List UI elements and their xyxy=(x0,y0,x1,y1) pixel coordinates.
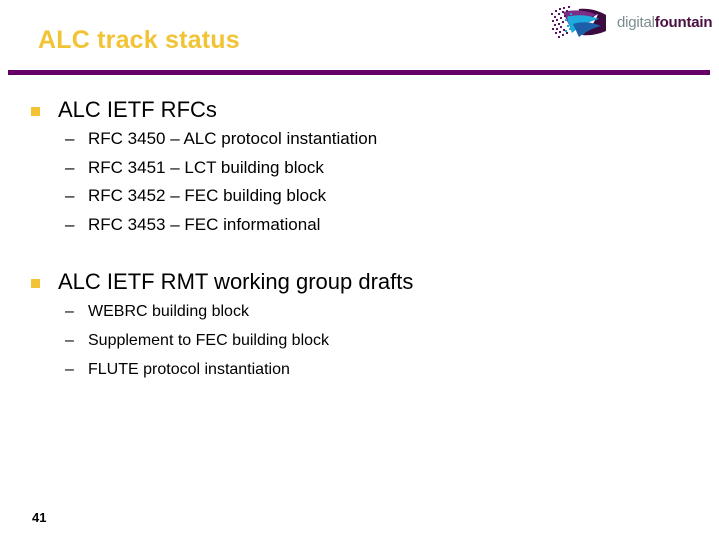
sub-bullet-label: RFC 3450 – ALC protocol instantiation xyxy=(88,129,377,148)
sub-bullet-item: – WEBRC building block xyxy=(0,297,719,326)
sub-bullet-label: RFC 3452 – FEC building block xyxy=(88,186,326,205)
bullet-heading-label: ALC IETF RMT working group drafts xyxy=(58,269,413,294)
bullet-group-2: ALC IETF RMT working group drafts – WEBR… xyxy=(0,267,719,384)
dash-bullet-icon: – xyxy=(65,211,74,240)
bullet-group-1: ALC IETF RFCs – RFC 3450 – ALC protocol … xyxy=(0,95,719,239)
sub-bullet-item: – RFC 3451 – LCT building block xyxy=(0,154,719,183)
dash-bullet-icon: – xyxy=(65,154,74,183)
page-number: 41 xyxy=(32,510,46,525)
sub-bullet-item: – RFC 3450 – ALC protocol instantiation xyxy=(0,125,719,154)
logo-word-digital: digital xyxy=(617,14,655,31)
dash-bullet-icon: – xyxy=(65,326,74,355)
sub-bullet-label: FLUTE protocol instantiation xyxy=(88,361,290,378)
bullet-heading-label: ALC IETF RFCs xyxy=(58,97,217,122)
group-spacer xyxy=(0,239,719,267)
logo-word-fountain: fountain xyxy=(655,14,713,31)
dash-bullet-icon: – xyxy=(65,355,74,384)
slide-body: ALC IETF RFCs – RFC 3450 – ALC protocol … xyxy=(0,95,719,384)
sub-bullet-label: Supplement to FEC building block xyxy=(88,332,329,349)
sub-bullet-item: – FLUTE protocol instantiation xyxy=(0,355,719,384)
bullet-heading: ALC IETF RMT working group drafts xyxy=(0,267,719,297)
title-divider xyxy=(8,70,710,75)
sub-bullet-label: RFC 3453 – FEC informational xyxy=(88,215,320,234)
sub-bullet-label: RFC 3451 – LCT building block xyxy=(88,158,324,177)
presentation-slide: ALC track status xyxy=(0,0,719,539)
bullet-heading: ALC IETF RFCs xyxy=(0,95,719,125)
page-title: ALC track status xyxy=(38,26,240,55)
sub-bullet-item: – Supplement to FEC building block xyxy=(0,326,719,355)
brand-logo: digitalfountain xyxy=(549,2,717,42)
dash-bullet-icon: – xyxy=(65,125,74,154)
logo-wordmark: digitalfountain xyxy=(617,15,712,30)
sub-bullet-item: – RFC 3452 – FEC building block xyxy=(0,182,719,211)
dash-bullet-icon: – xyxy=(65,297,74,326)
square-bullet-icon xyxy=(31,279,40,288)
sub-bullet-label: WEBRC building block xyxy=(88,303,249,320)
digital-fountain-fan-icon xyxy=(549,4,611,40)
dash-bullet-icon: – xyxy=(65,182,74,211)
square-bullet-icon xyxy=(31,107,40,116)
sub-bullet-item: – RFC 3453 – FEC informational xyxy=(0,211,719,240)
